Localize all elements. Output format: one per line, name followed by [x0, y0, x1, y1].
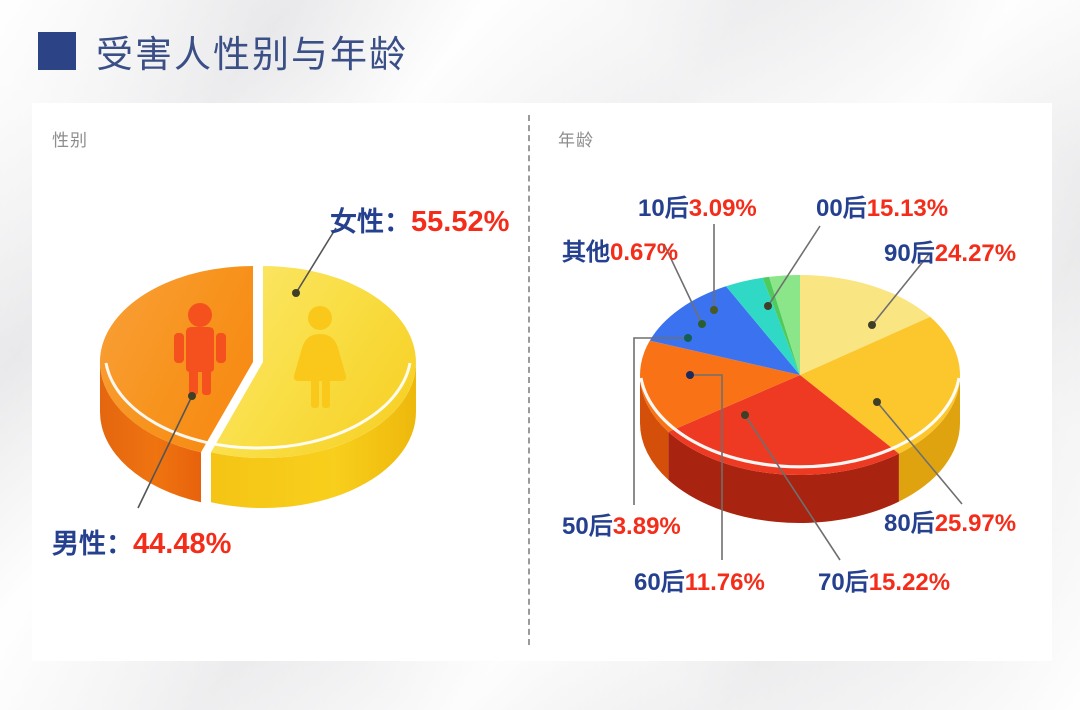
page-title: 受害人性别与年龄	[38, 24, 408, 78]
callout-80后: 80后25.97%	[884, 503, 1016, 538]
callout-female: 女性：55.52%	[330, 200, 509, 239]
callout-其他-value: 0.67%	[610, 239, 678, 266]
callout-male-key: 男性：	[52, 529, 133, 559]
callout-10后-key: 10后	[638, 195, 689, 222]
callout-70后-value: 15.22%	[869, 569, 950, 596]
title-bullet-square	[38, 32, 76, 70]
callout-male: 男性：44.48%	[52, 522, 231, 561]
callout-其他-key: 其他	[562, 239, 610, 266]
page-title-text: 受害人性别与年龄	[96, 24, 408, 78]
section-divider	[528, 115, 530, 645]
callout-90后-key: 90后	[884, 240, 935, 267]
callout-00后-value: 15.13%	[867, 195, 948, 222]
callout-10后: 10后3.09%	[638, 188, 757, 223]
callout-80后-key: 80后	[884, 510, 935, 537]
callout-female-value: 55.52%	[411, 206, 509, 238]
callout-00后: 00后15.13%	[816, 188, 948, 223]
callout-70后: 70后15.22%	[818, 562, 950, 597]
callout-10后-value: 3.09%	[689, 195, 757, 222]
callout-其他: 其他0.67%	[562, 232, 678, 267]
section-label-age: 年龄	[558, 126, 594, 151]
callout-50后-value: 3.89%	[613, 513, 681, 540]
callout-80后-value: 25.97%	[935, 510, 1016, 537]
callout-90后: 90后24.27%	[884, 233, 1016, 268]
callout-60后-key: 60后	[634, 569, 685, 596]
callout-50后-key: 50后	[562, 513, 613, 540]
callout-female-key: 女性：	[330, 207, 411, 237]
callout-60后: 60后11.76%	[634, 562, 765, 597]
callout-90后-value: 24.27%	[935, 240, 1016, 267]
section-label-gender: 性别	[52, 126, 88, 151]
callout-60后-value: 11.76%	[685, 569, 765, 596]
callout-50后: 50后3.89%	[562, 506, 681, 541]
callout-70后-key: 70后	[818, 569, 869, 596]
callout-male-value: 44.48%	[133, 528, 231, 560]
callout-00后-key: 00后	[816, 195, 867, 222]
